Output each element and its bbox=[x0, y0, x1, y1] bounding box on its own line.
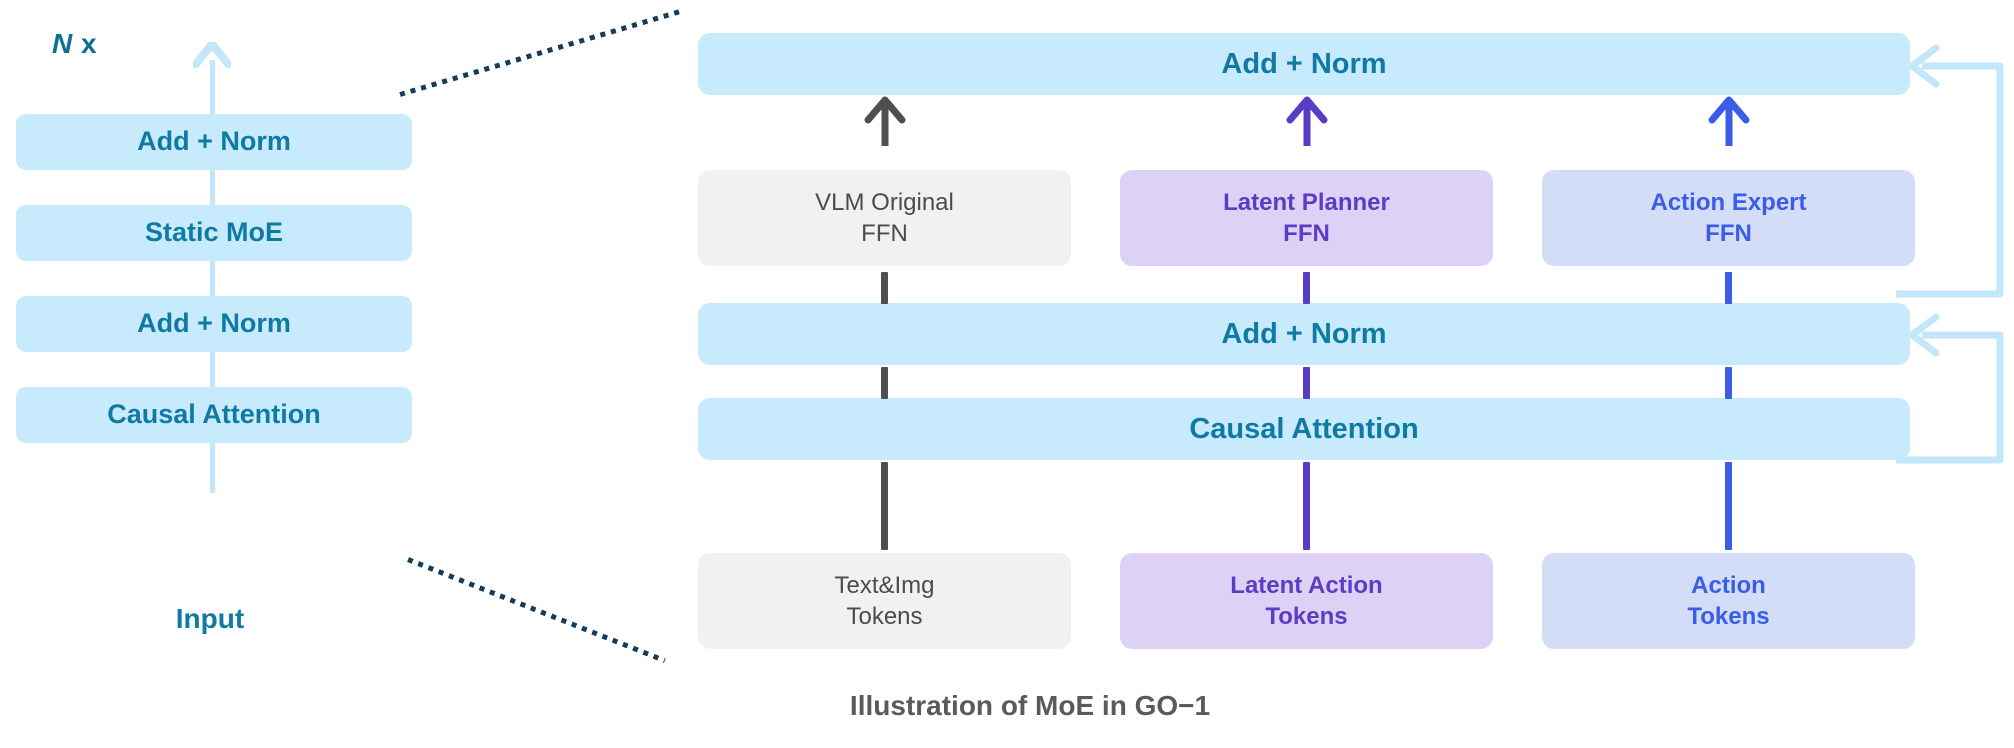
dotted-connector-top bbox=[399, 8, 684, 97]
diagram-canvas: N x Add + Norm Static MoE Add + Norm Cau… bbox=[0, 0, 2014, 748]
right-bar-causal-attention: Causal Attention bbox=[698, 398, 1910, 460]
right-bar-add-norm-2: Add + Norm bbox=[698, 33, 1910, 95]
connector-latent-tokens-to-attn bbox=[1303, 462, 1310, 550]
connector-text-tokens-to-attn bbox=[881, 462, 888, 550]
left-block-add-norm-1: Add + Norm bbox=[16, 296, 412, 352]
left-flow-line-bottom bbox=[210, 443, 215, 493]
arrow-latent-planner-ffn-to-addnorm-icon bbox=[1284, 96, 1330, 146]
ffn-box-vlm-original: VLM Original FFN bbox=[698, 170, 1071, 266]
left-flow-line-1 bbox=[210, 170, 215, 205]
connector-latent-midaddnorm-to-ffn bbox=[1303, 272, 1310, 304]
figure-caption: Illustration of MoE in GO−1 bbox=[620, 690, 1440, 722]
connector-action-attn-to-midaddnorm bbox=[1725, 367, 1732, 399]
token-box-text-img: Text&Img Tokens bbox=[698, 553, 1071, 649]
repeat-count-label: N x bbox=[52, 28, 97, 60]
token-box-latent-action: Latent Action Tokens bbox=[1120, 553, 1493, 649]
left-flow-line-3 bbox=[210, 352, 215, 387]
connector-action-midaddnorm-to-ffn bbox=[1725, 272, 1732, 304]
token-box-action: Action Tokens bbox=[1542, 553, 1915, 649]
repeat-count-n: N bbox=[52, 28, 73, 59]
left-flow-line-top bbox=[210, 60, 215, 114]
dotted-connector-bottom bbox=[407, 557, 666, 663]
connector-action-tokens-to-attn bbox=[1725, 462, 1732, 550]
left-block-causal-attention: Causal Attention bbox=[16, 387, 412, 443]
arrow-action-expert-ffn-to-addnorm-icon bbox=[1706, 96, 1752, 146]
left-block-static-moe: Static MoE bbox=[16, 205, 412, 261]
ffn-box-action-expert: Action Expert FFN bbox=[1542, 170, 1915, 266]
arrow-vlm-ffn-to-addnorm-icon bbox=[862, 96, 908, 146]
left-block-add-norm-2: Add + Norm bbox=[16, 114, 412, 170]
connector-latent-attn-to-midaddnorm bbox=[1303, 367, 1310, 399]
ffn-box-latent-planner: Latent Planner FFN bbox=[1120, 170, 1493, 266]
left-input-label: Input bbox=[0, 603, 420, 635]
left-flow-line-2 bbox=[210, 261, 215, 296]
connector-vlm-midaddnorm-to-ffn bbox=[881, 272, 888, 304]
left-flow-arrow-icon bbox=[193, 42, 231, 68]
connector-vlm-attn-to-midaddnorm bbox=[881, 367, 888, 399]
repeat-count-x: x bbox=[73, 28, 97, 59]
right-bar-add-norm-1: Add + Norm bbox=[698, 303, 1910, 365]
